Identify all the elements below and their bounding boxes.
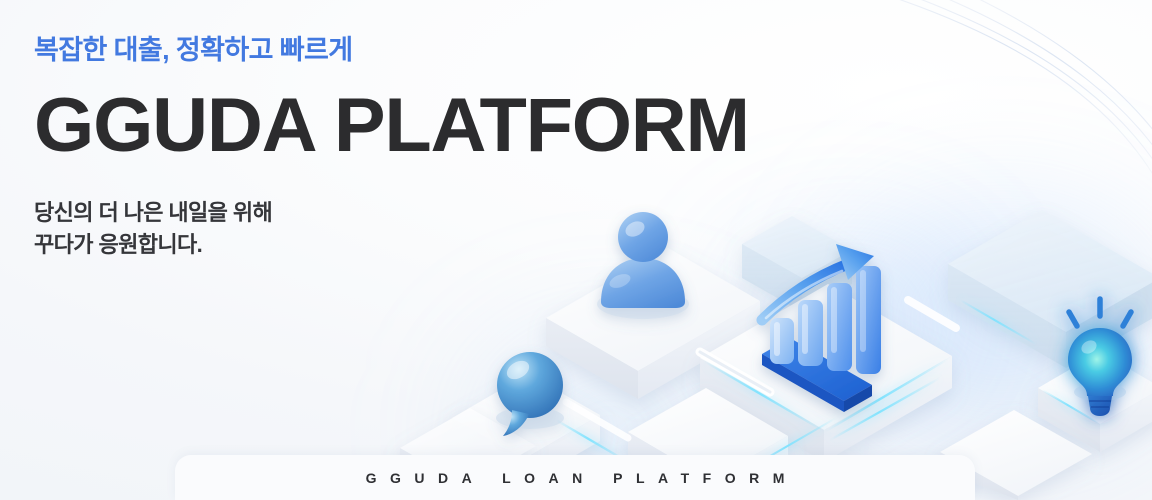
hero-eyebrow: 복잡한 대출, 정확하고 빠르게 xyxy=(34,34,735,66)
bar-1 xyxy=(770,318,794,364)
subtitle-line-1-light: 당신의 xyxy=(34,200,98,225)
page-title: GGUDA PLATFORM xyxy=(34,90,749,163)
bar-3 xyxy=(827,283,852,371)
ribbon-label: GGUDA LOAN PLATFORM xyxy=(352,470,798,486)
bottom-ribbon: GGUDA LOAN PLATFORM xyxy=(175,455,975,500)
bar-4 xyxy=(856,266,881,374)
speech-bubble-icon xyxy=(496,352,564,436)
bar-2 xyxy=(798,300,823,366)
hero-subtitle-line-1: 당신의 더 나은 내일을 위해 xyxy=(34,197,735,228)
hero-banner: 복잡한 대출, 정확하고 빠르게 GGUDA PLATFORM 당신의 더 나은… xyxy=(0,0,1152,500)
hero-subtitle: 당신의 더 나은 내일을 위해 꾸다가 응원합니다. xyxy=(34,197,735,259)
subtitle-line-1-bold: 더 나은 내일을 위해 xyxy=(98,200,272,225)
hero-subtitle-line-2: 꾸다가 응원합니다. xyxy=(34,229,735,260)
subtitle-line-2-light: 꾸다가 xyxy=(34,232,98,257)
hero-copy: 복잡한 대출, 정확하고 빠르게 GGUDA PLATFORM 당신의 더 나은… xyxy=(34,34,735,260)
subtitle-line-2-bold: 응원합니다. xyxy=(98,232,202,257)
